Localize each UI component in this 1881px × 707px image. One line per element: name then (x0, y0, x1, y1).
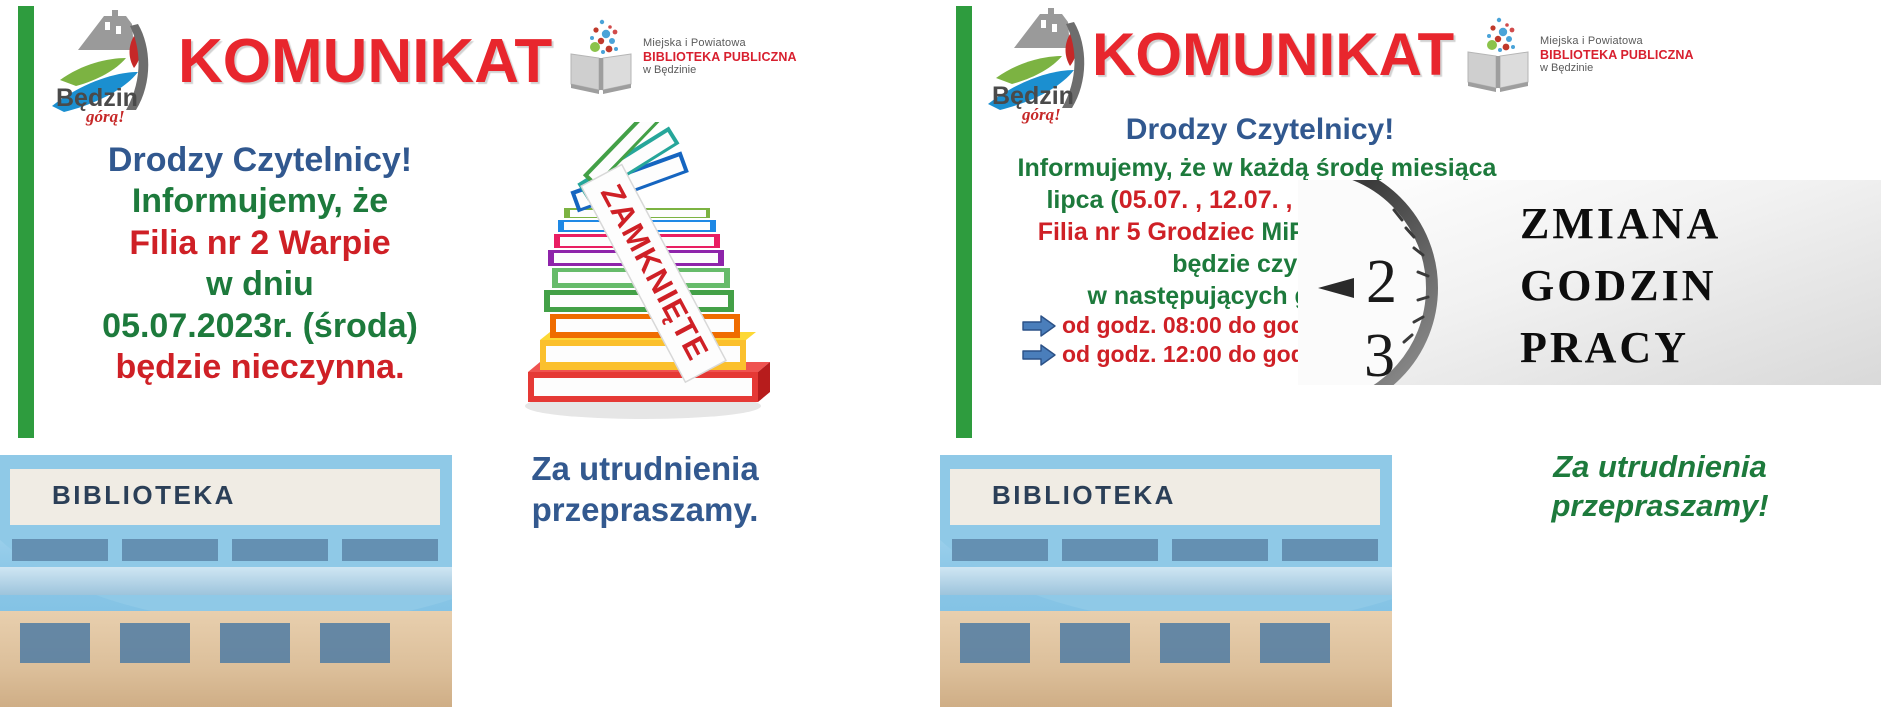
intro-prefix: lipca ( (1046, 186, 1118, 214)
apology-line-2: przepraszamy. (470, 489, 820, 530)
arrow-right-icon (1022, 343, 1056, 367)
message-line-3: w dniu (40, 264, 480, 305)
building-sign-label-right: BIBLIOTEKA (992, 480, 1176, 511)
library-name-line1-right: Miejska i Powiatowa (1540, 35, 1694, 48)
library-name-line1: Miejska i Powiatowa (643, 37, 797, 50)
library-name-line2: BIBLIOTEKA PUBLICZNA (643, 50, 797, 65)
building-sign-label-left: BIBLIOTEKA (52, 480, 236, 511)
open-book-icon (565, 18, 637, 96)
library-logo-left: Miejska i Powiatowa BIBLIOTEKA PUBLICZNA… (565, 18, 797, 96)
salutation-right: Drodzy Czytelnicy! (980, 112, 1540, 149)
library-name-line2-right: BIBLIOTEKA PUBLICZNA (1540, 48, 1694, 63)
bedzin-logo-icon-right: Będzin górą! (978, 4, 1106, 124)
green-accent-bar-left (18, 6, 34, 438)
announcement-panel-right: Będzin górą! KOMUNIKAT (940, 0, 1881, 707)
apology-line-1: Za utrudnienia (470, 448, 820, 489)
clock-caption-3: PRACY (1520, 323, 1689, 372)
page-title-left: KOMUNIKAT (178, 26, 552, 97)
salutation-right-wrap: Drodzy Czytelnicy! (980, 112, 1540, 149)
clock-caption-2: GODZIN (1520, 261, 1716, 310)
library-logo-text-right: Miejska i Powiatowa BIBLIOTEKA PUBLICZNA… (1540, 35, 1694, 76)
bedzin-city-logo-right: Będzin górą! (978, 4, 1106, 124)
announcement-panel-left: Będzin górą! KOMUNIKAT (0, 0, 940, 707)
page-title-right: KOMUNIKAT (1092, 20, 1454, 89)
arrow-right-icon (1022, 314, 1056, 338)
library-building-photo-right: BIBLIOTEKA (940, 455, 1392, 707)
green-accent-bar-right (956, 6, 972, 438)
apology-text-left: Za utrudnienia przepraszamy. (470, 448, 820, 531)
books-stack-image: ZAMKNIĘTE (478, 122, 808, 422)
bedzin-logo-icon: Będzin górą! (42, 6, 170, 126)
announcement-text-left: Drodzy Czytelnicy! Informujemy, że Filia… (40, 140, 480, 389)
poster-board: Będzin górą! KOMUNIKAT (0, 0, 1881, 707)
message-line-2: Filia nr 2 Warpie (40, 223, 480, 264)
message-line-1: Informujemy, że (40, 181, 480, 222)
salutation-left: Drodzy Czytelnicy! (40, 140, 480, 181)
apology-line-1-right: Za utrudnienia (1460, 448, 1860, 487)
message-line-5: będzie nieczynna. (40, 347, 480, 388)
svg-text:górą!: górą! (85, 107, 125, 126)
library-logo-right: Miejska i Powiatowa BIBLIOTEKA PUBLICZNA… (1462, 16, 1694, 94)
library-name-line3-right: w Będzinie (1540, 62, 1694, 75)
library-logo-text: Miejska i Powiatowa BIBLIOTEKA PUBLICZNA… (643, 37, 797, 78)
branch-name: Filia nr 5 Grodziec (1038, 218, 1255, 246)
library-building-photo-left: BIBLIOTEKA (0, 455, 452, 707)
clock-change-hours-image: 2 3 ZMIANA GODZIN PRACY (1298, 180, 1881, 385)
clock-caption-1: ZMIANA (1520, 199, 1721, 248)
library-name-line3: w Będzinie (643, 64, 797, 77)
clock-numeral-2: 2 (1366, 248, 1397, 316)
open-book-icon-right (1462, 16, 1534, 94)
clock-numeral-3: 3 (1364, 322, 1395, 385)
apology-text-right: Za utrudnienia przepraszamy! (1460, 448, 1860, 526)
message-line-4: 05.07.2023r. (środa) (40, 306, 480, 347)
apology-line-2-right: przepraszamy! (1460, 487, 1860, 526)
bedzin-city-logo: Będzin górą! (42, 6, 170, 126)
